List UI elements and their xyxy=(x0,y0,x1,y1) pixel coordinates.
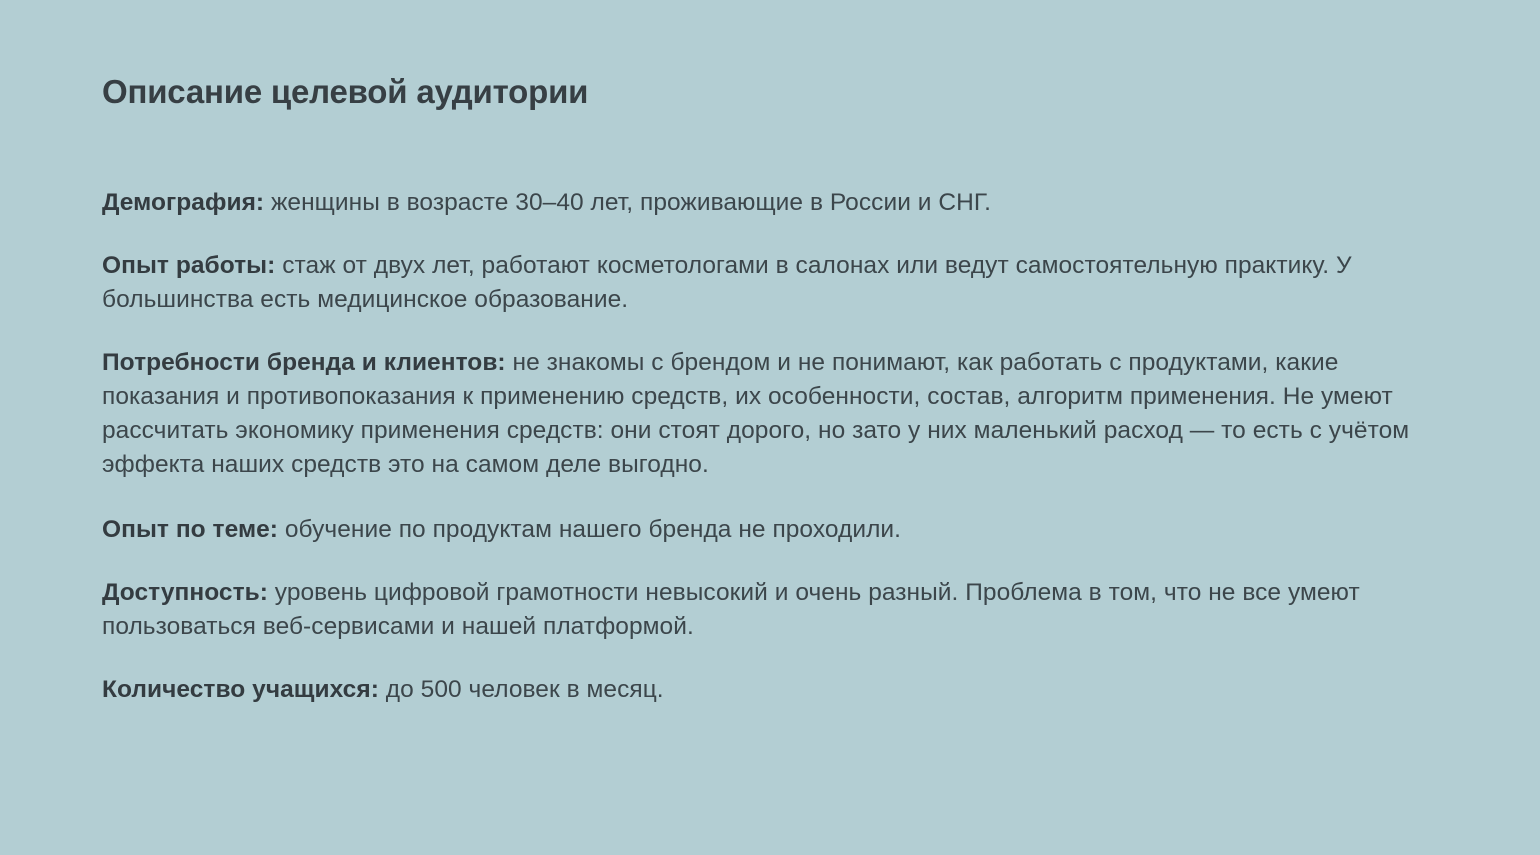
section-accessibility-text: уровень цифровой грамотности невысокий и… xyxy=(102,579,1360,640)
section-demographics-label: Демография: xyxy=(102,189,264,216)
audience-description-body: Демография: женщины в возрасте 30–40 лет… xyxy=(102,186,1447,707)
section-work-experience-text: стаж от двух лет, работают косметологами… xyxy=(102,252,1352,313)
section-student-count: Количество учащихся: до 500 человек в ме… xyxy=(102,673,1447,707)
section-accessibility: Доступность: уровень цифровой грамотност… xyxy=(102,576,1447,644)
section-topic-experience-text: обучение по продуктам нашего бренда не п… xyxy=(278,516,901,543)
section-topic-experience-label: Опыт по теме: xyxy=(102,516,278,543)
slide-canvas: Описание целевой аудитории Демография: ж… xyxy=(0,0,1540,855)
section-work-experience: Опыт работы: стаж от двух лет, работают … xyxy=(102,249,1447,317)
section-brand-client-needs-label: Потребности бренда и клиентов: xyxy=(102,349,506,376)
section-student-count-label: Количество учащихся: xyxy=(102,676,379,703)
section-brand-client-needs: Потребности бренда и клиентов: не знаком… xyxy=(102,346,1447,482)
section-topic-experience: Опыт по теме: обучение по продуктам наше… xyxy=(102,513,1447,547)
section-accessibility-label: Доступность: xyxy=(102,579,268,606)
section-work-experience-label: Опыт работы: xyxy=(102,252,275,279)
page-title: Описание целевой аудитории xyxy=(102,72,588,112)
section-student-count-text: до 500 человек в месяц. xyxy=(379,676,664,703)
section-demographics-text: женщины в возрасте 30–40 лет, проживающи… xyxy=(264,189,991,216)
section-demographics: Демография: женщины в возрасте 30–40 лет… xyxy=(102,186,1447,220)
